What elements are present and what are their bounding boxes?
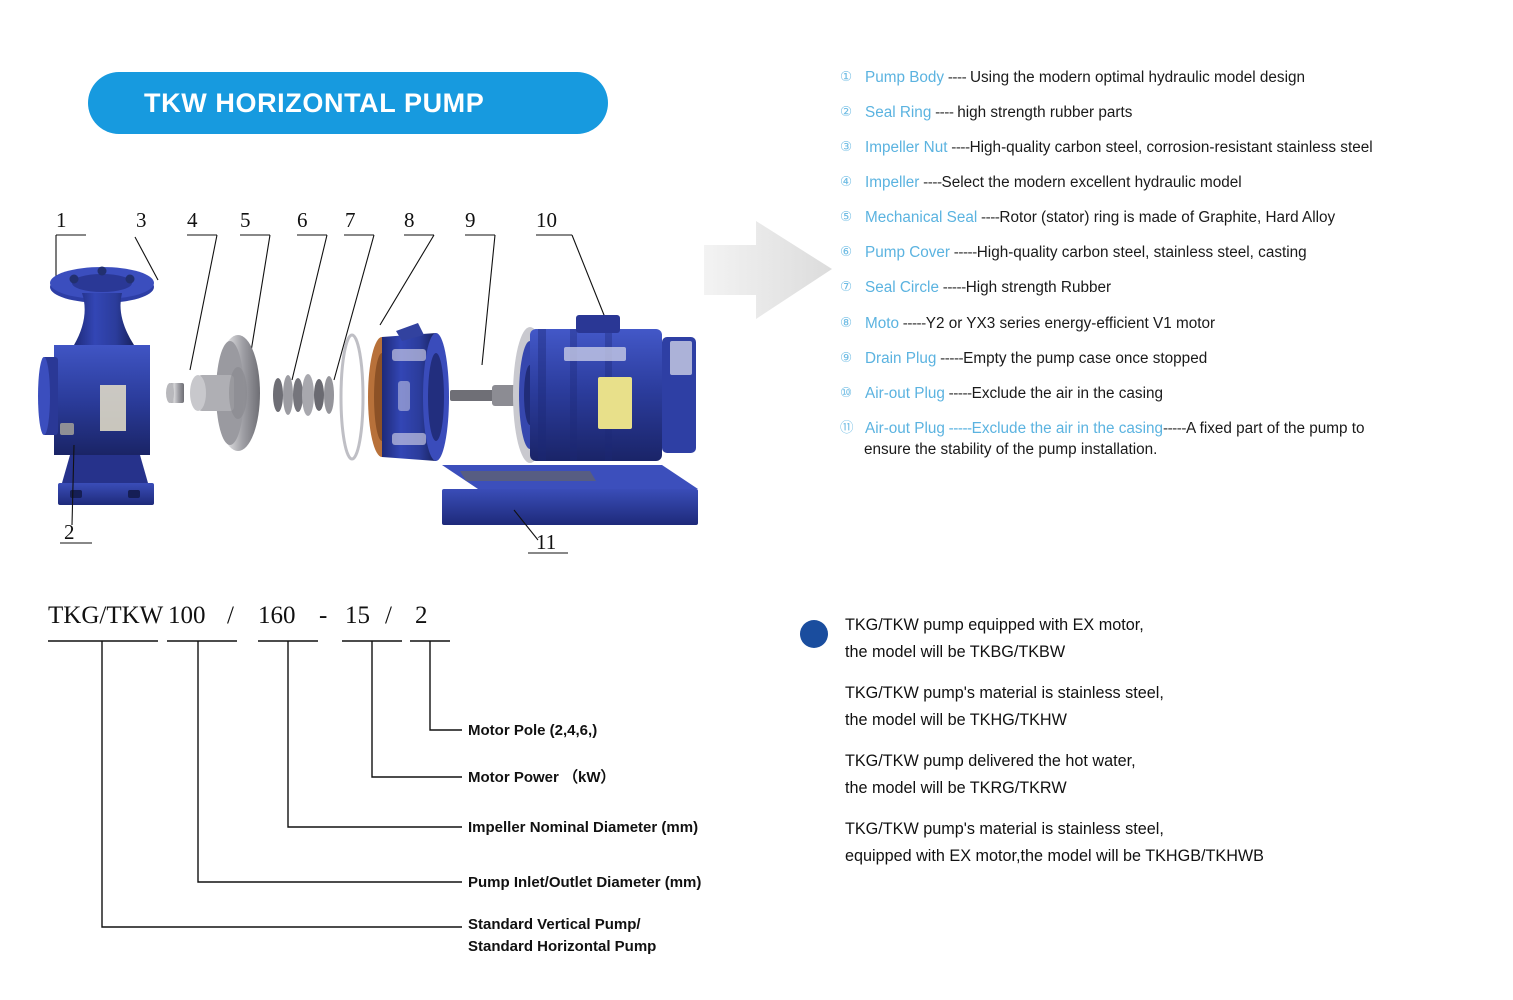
legend-description-continued: ensure the stability of the pump install… (840, 440, 1500, 460)
legend-description: A fixed part of the pump to (1186, 420, 1365, 437)
code-token-slash-1: / (227, 602, 234, 629)
legend-description: Y2 or YX3 series energy-efficient V1 mot… (926, 315, 1215, 332)
legend-dash: ---- (977, 209, 999, 226)
code-token-impeller: 160 (258, 602, 296, 629)
legend-number: ① (840, 68, 865, 86)
code-label-standard-horizontal: Standard Horizontal Pump (468, 938, 656, 955)
base-plate-part (442, 465, 698, 525)
legend-part-name: Drain Plug (865, 350, 936, 367)
note-group-last: TKG/TKW pump's material is stainless ste… (845, 819, 1465, 867)
legend-part-name: Pump Body (865, 69, 944, 86)
code-token-slash-2: / (385, 602, 392, 629)
legend-part-name: Impeller Nut (865, 139, 947, 156)
legend-description: Empty the pump case once stopped (963, 350, 1207, 367)
page-title-banner: TKW HORIZONTAL PUMP (88, 72, 608, 134)
legend-number: ⑦ (840, 278, 865, 296)
legend-number: ④ (840, 173, 865, 191)
note-main: TKG/TKW pump's material is stainless ste… (845, 683, 1465, 704)
code-label-motor-pole: Motor Pole (2,4,6,) (468, 722, 597, 739)
legend-item: ⑥ Pump Cover -----High-quality carbon st… (840, 243, 1500, 263)
note-sub: the model will be TKHG/TKHW (845, 710, 1465, 731)
callout-number: 1 (56, 208, 67, 232)
legend-description: High-quality carbon steel, corrosion-res… (970, 139, 1373, 156)
note-sub: the model will be TKRG/TKRW (845, 778, 1465, 799)
legend-number: ⑪ (840, 419, 865, 437)
legend-description: Exclude the air in the casing (972, 385, 1163, 402)
seal-circle-part (341, 335, 363, 459)
legend-part-name: Air-out Plug (865, 385, 945, 402)
code-token-power: 15 (345, 602, 370, 629)
code-token-pole: 2 (415, 602, 428, 629)
pump-spec-page: TKW HORIZONTAL PUMP (0, 0, 1513, 1000)
legend-part-name: Seal Circle (865, 279, 939, 296)
legend-description: Rotor (stator) ring is made of Graphite,… (999, 209, 1335, 226)
legend-item: ⑨ Drain Plug -----Empty the pump case on… (840, 349, 1500, 369)
legend-description: Select the modern excellent hydraulic mo… (942, 174, 1242, 191)
callout-number: 8 (404, 208, 415, 232)
impeller-part (190, 335, 260, 451)
legend-number: ⑤ (840, 208, 865, 226)
legend-item-last: ⑪ Air-out Plug -----Exclude the air in t… (840, 419, 1500, 460)
note-group: TKG/TKW pump delivered the hot water, th… (845, 751, 1465, 799)
code-label-inlet-diameter: Pump Inlet/Outlet Diameter (mm) (468, 874, 701, 891)
callout-number: 9 (465, 208, 476, 232)
note-sub: the model will be TKBG/TKBW (845, 642, 1465, 663)
legend-item: ④ Impeller ----Select the modern excelle… (840, 173, 1500, 193)
page-title: TKW HORIZONTAL PUMP (144, 88, 484, 119)
callout-number: 7 (345, 208, 356, 232)
note-main: TKG/TKW pump equipped with EX motor, (845, 615, 1465, 636)
note-sub-last: equipped with EX motor,the model will be… (845, 846, 1465, 867)
model-naming-notes: TKG/TKW pump equipped with EX motor, the… (845, 615, 1465, 888)
legend-item: ⑩ Air-out Plug -----Exclude the air in t… (840, 384, 1500, 404)
legend-number: ⑨ (840, 349, 865, 367)
legend-dash: ---- (931, 104, 957, 121)
code-token-hyphen: - (319, 602, 327, 629)
note-group: TKG/TKW pump equipped with EX motor, the… (845, 615, 1465, 663)
exploded-pump-illustration: 1 3 4 5 6 7 8 9 10 (30, 205, 700, 575)
legend-part-name: Seal Ring (865, 104, 931, 121)
legend-description: High-quality carbon steel, stainless ste… (977, 244, 1307, 261)
legend-part-name: Impeller (865, 174, 919, 191)
legend-dash: ---- (947, 139, 969, 156)
note-bullet-icon (800, 620, 828, 648)
code-token-series: TKG/TKW (48, 602, 164, 629)
callout-number: 11 (536, 530, 556, 554)
legend-number: ⑩ (840, 384, 865, 402)
code-label-motor-power: Motor Power （kW） (468, 768, 616, 786)
legend-item: ⑤ Mechanical Seal ----Rotor (stator) rin… (840, 208, 1500, 228)
legend-dash: ----- (945, 385, 972, 402)
impeller-nut-part (166, 383, 184, 403)
legend-part-name: Moto (865, 315, 899, 332)
motor-part (450, 315, 696, 463)
legend-item: ⑦ Seal Circle -----High strength Rubber (840, 278, 1500, 298)
legend-item: ⑧ Moto -----Y2 or YX3 series energy-effi… (840, 314, 1500, 334)
note-main: TKG/TKW pump delivered the hot water, (845, 751, 1465, 772)
legend-dash: ---- (919, 174, 941, 191)
legend-dash: ----- (950, 244, 977, 261)
callout-number: 2 (64, 520, 75, 544)
legend-number: ③ (840, 138, 865, 156)
legend-dash: ----- (936, 350, 963, 367)
code-token-inlet: 100 (168, 602, 206, 629)
legend-part-name: Mechanical Seal (865, 209, 977, 226)
code-label-standard-vertical: Standard Vertical Pump/ (468, 916, 641, 933)
pump-cover-part (368, 323, 449, 461)
legend-blue-description: Exclude the air in the casing (972, 420, 1163, 437)
callout-number: 5 (240, 208, 251, 232)
note-main: TKG/TKW pump's material is stainless ste… (845, 819, 1465, 840)
legend-part-name: Air-out Plug (865, 420, 945, 437)
parts-legend-list: ① Pump Body ---- Using the modern optima… (840, 68, 1500, 475)
callout-number: 10 (536, 208, 557, 232)
legend-description: high strength rubber parts (957, 104, 1132, 121)
legend-number: ⑧ (840, 314, 865, 332)
pump-body-part (38, 267, 154, 506)
callout-number: 3 (136, 208, 147, 232)
callout-number: 4 (187, 208, 198, 232)
legend-dash: ----- (939, 279, 966, 296)
legend-description: High strength Rubber (966, 279, 1111, 296)
model-code-diagram: TKG/TKW 100 / 160 - 15 / 2 (30, 595, 730, 975)
callout-number: 6 (297, 208, 308, 232)
code-label-impeller-diameter: Impeller Nominal Diameter (mm) (468, 819, 698, 836)
legend-number: ② (840, 103, 865, 121)
mechanical-seal-part (273, 374, 334, 416)
legend-part-name: Pump Cover (865, 244, 950, 261)
legend-dash: ----- (899, 315, 926, 332)
legend-dash: ---- (944, 69, 970, 86)
note-model-code: TKHGB/TKHWB (1145, 847, 1264, 865)
legend-item: ② Seal Ring ---- high strength rubber pa… (840, 103, 1500, 123)
flow-arrow-icon (700, 215, 850, 325)
legend-item: ① Pump Body ---- Using the modern optima… (840, 68, 1500, 88)
legend-dash: ----- (945, 420, 972, 437)
note-group: TKG/TKW pump's material is stainless ste… (845, 683, 1465, 731)
code-leader-lines (102, 641, 462, 927)
legend-dash-2: ----- (1163, 420, 1186, 437)
legend-number: ⑥ (840, 243, 865, 261)
legend-description: Using the modern optimal hydraulic model… (970, 69, 1305, 86)
legend-item: ③ Impeller Nut ----High-quality carbon s… (840, 138, 1500, 158)
note-sub-prefix: equipped with EX motor,the model will be (845, 847, 1145, 865)
